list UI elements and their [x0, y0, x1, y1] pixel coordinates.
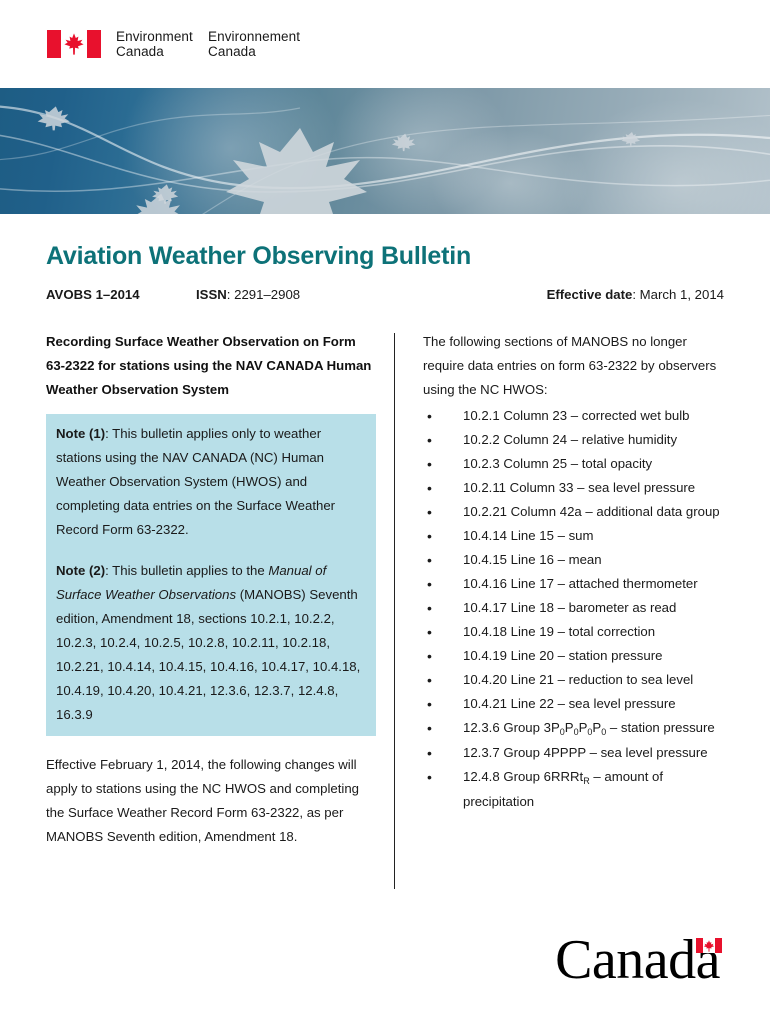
department-fr-line2: Canada — [208, 44, 300, 60]
page-title: Aviation Weather Observing Bulletin — [46, 242, 724, 271]
section-list-item: 10.4.16 Line 17 – attached thermometer — [423, 572, 724, 596]
section-list-item: 10.4.19 Line 20 – station pressure — [423, 644, 724, 668]
right-column: The following sections of MANOBS no long… — [423, 330, 724, 889]
section-list-item: 12.4.8 Group 6RRRtR – amount of precipit… — [423, 765, 724, 814]
note-2-label: Note — [56, 563, 85, 578]
government-logo-band: Environment Canada Environnement Canada — [0, 0, 770, 88]
left-column: Recording Surface Weather Observation on… — [46, 330, 376, 889]
document-meta-row: AVOBS 1–2014 ISSN: 2291–2908 Effective d… — [46, 287, 724, 302]
left-subheading: Recording Surface Weather Observation on… — [46, 330, 376, 402]
section-list-item: 12.3.7 Group 4PPPP – sea level pressure — [423, 741, 724, 765]
column-divider — [394, 333, 395, 889]
note-2-text-before: : This bulletin applies to the — [105, 563, 268, 578]
effective-date: Effective date: March 1, 2014 — [547, 287, 724, 302]
section-list-item: 10.4.17 Line 18 – barometer as read — [423, 596, 724, 620]
note-1-text: : This bulletin applies only to weather … — [56, 426, 335, 537]
section-list-item: 10.2.3 Column 25 – total opacity — [423, 452, 724, 476]
section-list-item: 10.4.21 Line 22 – sea level pressure — [423, 692, 724, 716]
section-list-item: 10.2.11 Column 33 – sea level pressure — [423, 476, 724, 500]
section-list-item: 12.3.6 Group 3P0P0P0P0 – station pressur… — [423, 716, 724, 741]
note-2-number: (2) — [85, 563, 105, 578]
banner-swirl-graphics — [0, 88, 770, 216]
department-wordmark: Environment Canada Environnement Canada — [116, 29, 300, 60]
decorative-banner — [0, 88, 770, 216]
note-1: Note (1): This bulletin applies only to … — [56, 422, 366, 542]
canada-wordmark-footer: Canada — [555, 934, 724, 986]
note-2-text-after: (MANOBS) Seventh edition, Amendment 18, … — [56, 587, 360, 722]
section-list-item: 10.4.18 Line 19 – total correction — [423, 620, 724, 644]
right-intro: The following sections of MANOBS no long… — [423, 330, 724, 402]
notes-callout-box: Note (1): This bulletin applies only to … — [46, 414, 376, 736]
department-en-line2: Canada — [116, 44, 208, 60]
effective-date-value: : March 1, 2014 — [632, 287, 724, 302]
effective-date-label: Effective date — [547, 287, 633, 302]
bulletin-number: AVOBS 1–2014 — [46, 287, 196, 302]
two-column-body: Recording Surface Weather Observation on… — [46, 330, 724, 889]
canada-flag-icon-footer — [696, 938, 722, 953]
section-list-item: 10.4.14 Line 15 – sum — [423, 524, 724, 548]
canada-flag-icon — [46, 29, 102, 59]
issn-value: : 2291–2908 — [227, 287, 300, 302]
department-fr-line1: Environnement — [208, 29, 300, 45]
maple-leaf-icon — [64, 33, 84, 55]
section-list-item: 10.2.2 Column 24 – relative humidity — [423, 428, 724, 452]
note-1-number: (1) — [85, 426, 105, 441]
department-en-line1: Environment — [116, 29, 208, 45]
note-2: Note (2): This bulletin applies to the M… — [56, 559, 366, 727]
section-list-item: 10.4.15 Line 16 – mean — [423, 548, 724, 572]
maple-leaf-icon-footer — [704, 940, 715, 952]
section-list-item: 10.2.1 Column 23 – corrected wet bulb — [423, 404, 724, 428]
note-1-label: Note — [56, 426, 85, 441]
section-list-item: 10.4.20 Line 21 – reduction to sea level — [423, 668, 724, 692]
section-list-item: 10.2.21 Column 42a – additional data gro… — [423, 500, 724, 524]
sections-list: 10.2.1 Column 23 – corrected wet bulb10.… — [423, 404, 724, 814]
issn-label: ISSN — [196, 287, 227, 302]
left-paragraph: Effective February 1, 2014, the followin… — [46, 753, 376, 849]
issn: ISSN: 2291–2908 — [196, 287, 547, 302]
